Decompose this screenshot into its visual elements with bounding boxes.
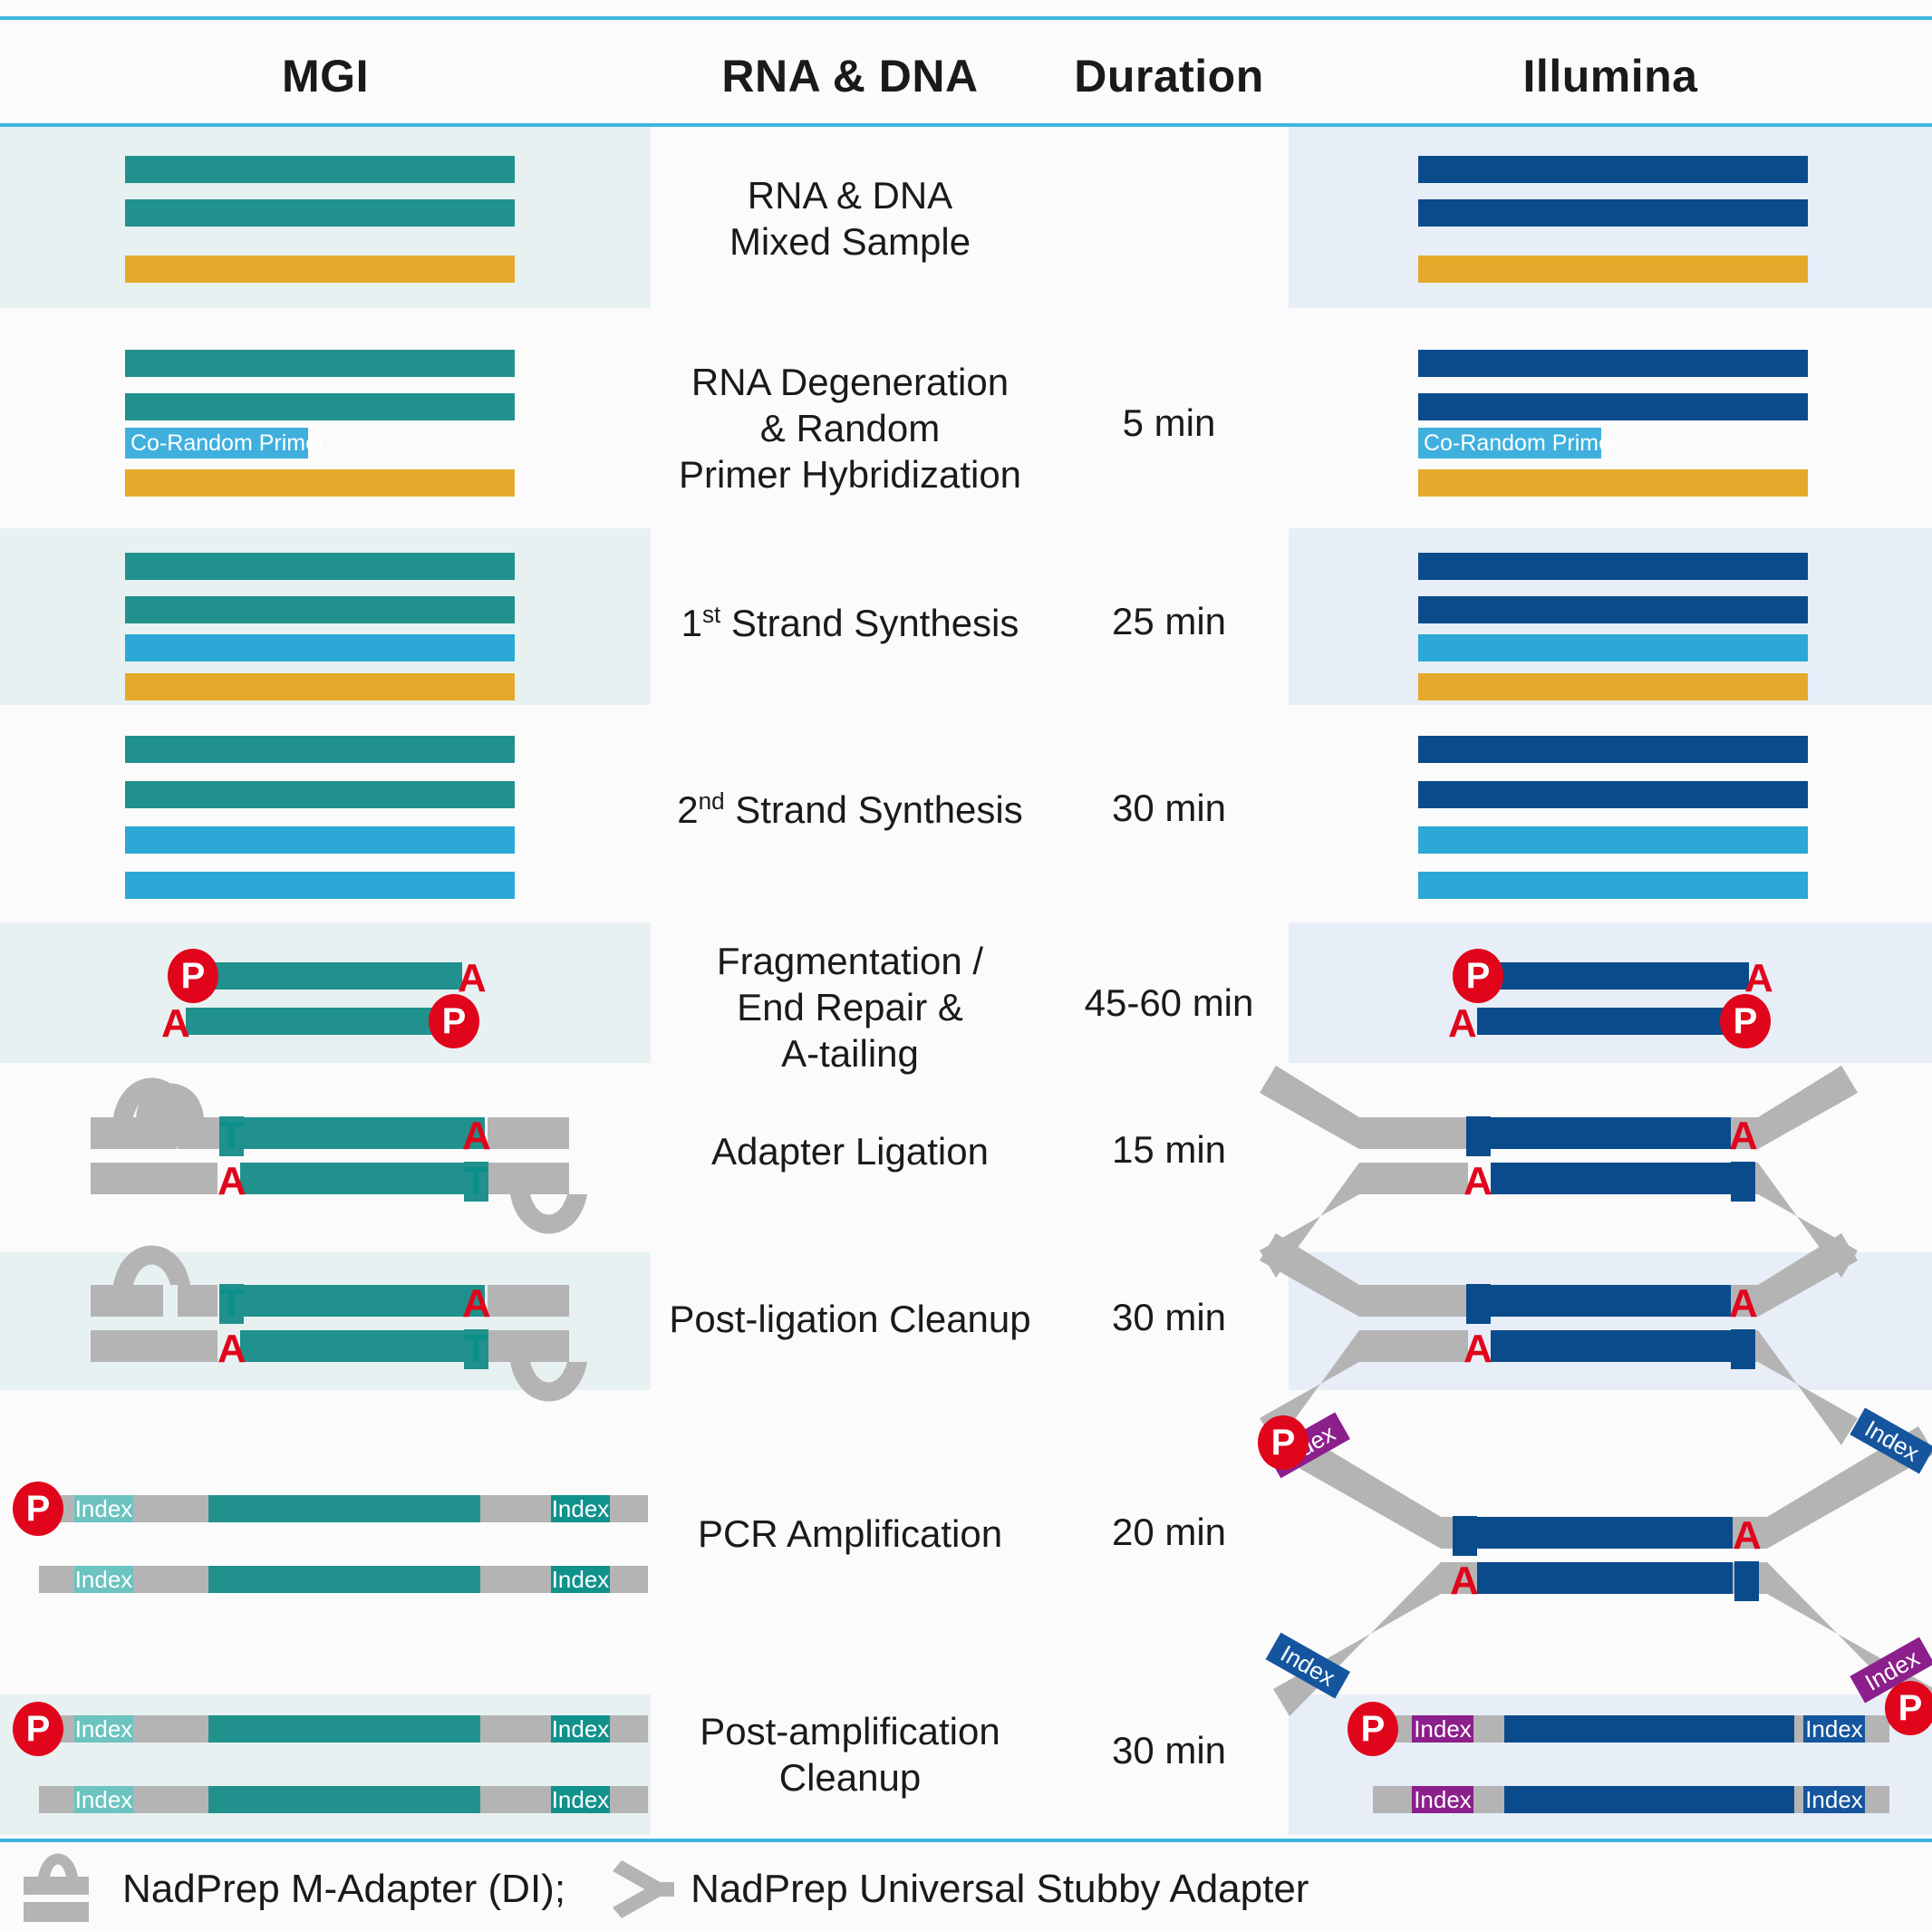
phosphate-marker-mgi-top: P (168, 949, 218, 1003)
insert-mgi-r9-top (208, 1715, 480, 1743)
phosphate-marker-illumina-bottom: P (1720, 994, 1771, 1048)
base-t-illumina-r8-bottom-right: T (1734, 1561, 1759, 1601)
phosphate-marker-illumina-r8-top: P (1258, 1415, 1309, 1470)
phosphate-marker-mgi-bottom: P (429, 994, 479, 1048)
phosphate-marker-illumina-r9: P (1348, 1702, 1398, 1756)
index-right-illumina-r9-bottom: Index (1803, 1786, 1865, 1813)
index-left-illumina-r9-bottom: Index (1412, 1786, 1473, 1813)
base-t-illumina-r8-left: T (1453, 1516, 1477, 1556)
step-label-8: PCR Amplification (651, 1511, 1049, 1557)
insert-illumina-r9-top (1504, 1715, 1794, 1743)
phosphate-marker-illumina-top: P (1453, 949, 1503, 1003)
base-a-illumina-r8-right: A (1733, 1516, 1762, 1556)
step-label-9-line2: Cleanup (651, 1754, 1049, 1801)
stubby-adapter-icon (613, 1848, 676, 1931)
duration-9: 30 min (1049, 1729, 1289, 1772)
insert-top-illumina-r8 (1477, 1517, 1733, 1549)
duration-8: 20 min (1049, 1511, 1289, 1554)
insert-bottom-illumina-r8 (1477, 1562, 1733, 1594)
index-right-mgi-r9-bottom: Index (551, 1786, 610, 1813)
legend-m-adapter-label: NadPrep M-Adapter (DI); (122, 1867, 565, 1912)
index-left-illumina-r9-top: Index (1412, 1715, 1473, 1743)
phosphate-marker-mgi-r9: P (13, 1702, 63, 1756)
illumina-pcr-adapter-shapes: Index Index Index Index (0, 0, 1932, 1931)
workflow-diagram: MGI RNA & DNA Duration Illumina RNA & DN… (0, 0, 1932, 1931)
legend: NadPrep M-Adapter (DI); NadPrep Universa… (0, 1849, 1932, 1930)
index-right-mgi-r9-top: Index (551, 1715, 610, 1743)
index-left-mgi-r9-bottom: Index (74, 1786, 133, 1813)
m-adapter-icon (13, 1848, 99, 1931)
step-label-9-line1: Post-amplification (651, 1708, 1049, 1754)
index-left-mgi-r9-top: Index (74, 1715, 133, 1743)
insert-illumina-r9-bottom (1504, 1786, 1794, 1813)
step-label-9: Post-amplification Cleanup (651, 1708, 1049, 1801)
index-right-illumina-r9-top: Index (1803, 1715, 1865, 1743)
base-a-illumina-r8-bottom-left: A (1450, 1561, 1479, 1601)
phosphate-marker-illumina-r8-bottom: P (1885, 1681, 1932, 1735)
legend-stubby-adapter-label: NadPrep Universal Stubby Adapter (691, 1867, 1309, 1912)
insert-mgi-r9-bottom (208, 1786, 480, 1813)
phosphate-marker-mgi-r8: P (13, 1482, 63, 1536)
